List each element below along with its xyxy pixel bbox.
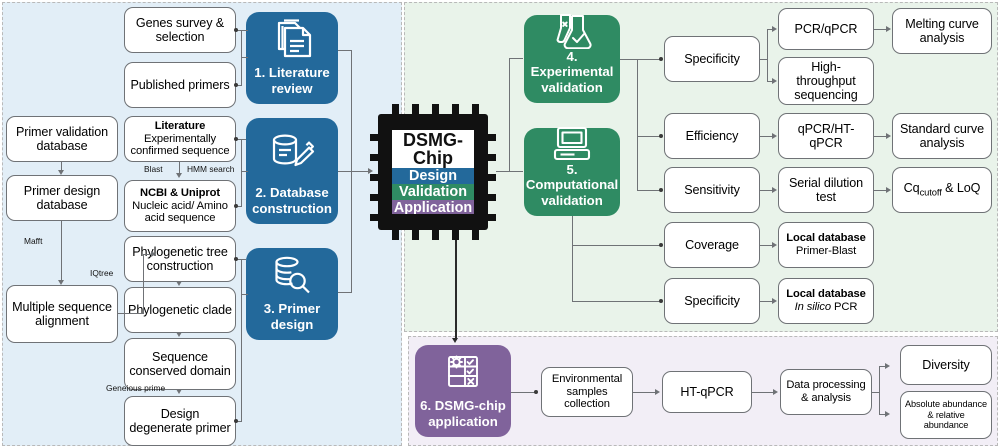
stagebox-experimental-validation-line1: 4. Experimental — [524, 49, 620, 80]
edge-msa-to-tree-v — [143, 254, 144, 314]
node-melting-curve-analysis: Melting curve analysis — [892, 8, 992, 54]
edge-s3-in — [241, 294, 248, 295]
stagebox-computational-validation-line1: 5. Computational — [522, 162, 622, 193]
chip-face: DSMG- Chip Design Validation Application — [392, 130, 474, 214]
edge-htqpcr-to-data — [752, 392, 774, 393]
edge-s4-bus — [637, 59, 638, 190]
dsmg-chip[interactable]: DSMG- Chip Design Validation Application — [370, 104, 496, 240]
stagebox-experimental-validation-line2: validation — [537, 80, 607, 95]
edge-s6-to-env — [511, 392, 536, 393]
edge-data-split — [879, 366, 880, 414]
node-exp-specificity: Specificity — [664, 36, 760, 82]
edge-spec-split — [767, 29, 768, 81]
edge-s5-to-coverage — [572, 245, 662, 246]
documents-icon — [246, 12, 338, 65]
arrowhead-qpcr-to-standard — [886, 133, 891, 139]
node-local-database-in-silico-pcr: Local database In silico PCR — [778, 278, 874, 324]
database-pencil-icon — [246, 118, 338, 185]
edge-validation-bus — [509, 58, 510, 172]
edge-lit-ncbi-v — [241, 139, 242, 206]
edge-tree-degenerate-v — [241, 259, 242, 421]
node-phylogenetic-clade: Phylogenetic clade — [124, 287, 236, 333]
node-phylogenetic-tree-construction: Phylogenetic tree construction — [124, 236, 236, 282]
node-design-degenerate-primer: Design degenerate primer — [124, 396, 236, 446]
edge-s1-in — [241, 57, 248, 58]
node-literature-body: Experimentally confirmed sequence — [128, 133, 232, 158]
arrowhead-domain-to-degenerate — [176, 389, 182, 394]
edge-label-blast: Blast — [144, 164, 163, 174]
node-exp-efficiency: Efficiency — [664, 113, 760, 159]
node-data-processing-analysis: Data processing & analysis — [780, 369, 872, 415]
node-absolute-relative-abundance: Absolute abundance & relative abundance — [900, 391, 992, 439]
stagebox-literature-review[interactable]: 1. Literature review — [246, 12, 338, 104]
stagebox-dsmg-chip-application[interactable]: 6. DSMG-chip application — [415, 345, 511, 437]
flasks-icon — [524, 13, 620, 49]
arrowhead-env-to-htqpcr — [655, 389, 660, 395]
node-primer-design-database: Primer design database — [6, 175, 118, 221]
arrowhead-literature-to-ncbi — [176, 173, 182, 178]
node-multiple-sequence-alignment: Multiple sequence alignment — [6, 285, 118, 343]
chip-band-application[interactable]: Application — [392, 200, 474, 214]
node-ncbi-uniprot-title: NCBI & Uniprot — [140, 187, 220, 200]
cq-text: Cqcutoff & LoQ — [904, 181, 981, 198]
node-qpcr-ht-qpcr: qPCR/HT-qPCR — [778, 113, 874, 159]
arrowhead-data-to-abundance — [885, 411, 890, 417]
edge-pddb-to-msa — [61, 221, 62, 281]
arrowhead-chip-to-application — [452, 338, 458, 343]
node-comp-specificity: Specificity — [664, 278, 760, 324]
checklist-gear-icon — [415, 345, 511, 398]
chip-title: DSMG- Chip — [392, 130, 474, 168]
node-ncbi-uniprot: NCBI & Uniprot Nucleic acid/ Amino acid … — [124, 180, 236, 232]
stagebox-computational-validation[interactable]: 5. Computational validation — [524, 128, 620, 216]
arrowhead-pddb-to-msa — [58, 280, 64, 285]
chip-band-design[interactable]: Design — [392, 168, 474, 184]
stagebox-database-construction-line2: construction — [248, 201, 336, 216]
node-local-db-title-1: Local database — [786, 232, 865, 245]
node-exp-sensitivity: Sensitivity — [664, 167, 760, 213]
node-diversity: Diversity — [900, 345, 992, 385]
arrowhead-pvdb-to-pddb — [58, 170, 64, 175]
arrowhead-data-to-diversity — [885, 363, 890, 369]
pcr-suffix: PCR — [831, 301, 857, 313]
stagebox-computational-validation-line2: validation — [537, 193, 607, 208]
edge-s2-out — [338, 171, 352, 172]
cq-suffix: & LoQ — [942, 181, 981, 195]
arrowhead-tree-to-clade — [176, 281, 182, 286]
node-high-throughput-sequencing: High-throughput sequencing — [778, 57, 874, 105]
node-primer-validation-database: Primer validation database — [6, 116, 118, 162]
edge-s4-out — [620, 59, 638, 60]
edge-s1-out — [338, 50, 352, 51]
node-comp-coverage: Coverage — [664, 222, 760, 268]
node-standard-curve-analysis: Standard curve analysis — [892, 113, 992, 159]
stagebox-database-construction-line1: 2. Database — [251, 185, 332, 200]
edge-s5-to-comp-specificity — [572, 301, 662, 302]
chip-band-validation[interactable]: Validation — [392, 184, 474, 200]
edge-s5-bus — [572, 216, 573, 301]
node-literature-title: Literature — [155, 120, 206, 133]
in-silico-italic: In silico — [795, 301, 831, 313]
arrowhead-coverage-to-localdb — [772, 242, 777, 248]
arrowhead-eff-to-qpcr — [772, 133, 777, 139]
edge-env-to-htqpcr — [633, 392, 656, 393]
node-environmental-samples-collection: Environmental samples collection — [541, 367, 633, 417]
node-cq-cutoff-loq: Cqcutoff & LoQ — [892, 167, 992, 213]
arrowhead-clade-to-domain — [176, 332, 182, 337]
stagebox-application-line2: application — [424, 414, 502, 429]
chip-title-line1: DSMG- — [403, 130, 463, 150]
edge-bus-to-s4 — [509, 58, 523, 59]
node-literature: Literature Experimentally confirmed sequ… — [124, 116, 236, 162]
stagebox-primer-design[interactable]: 3. Primer design — [246, 248, 338, 340]
computer-icon — [524, 126, 620, 162]
chip-title-line2: Chip — [413, 148, 453, 168]
edge-msa-to-tree-h — [118, 313, 144, 314]
node-ht-qpcr: HT-qPCR — [662, 371, 752, 413]
stagebox-experimental-validation[interactable]: 4. Experimental validation — [524, 15, 620, 103]
stagebox-literature-review-line1: 1. Literature — [250, 65, 334, 80]
edge-label-iqtree: IQtree — [90, 268, 113, 278]
node-local-db-title-2: Local database — [786, 288, 865, 301]
edge-label-mafft: Mafft — [24, 236, 42, 246]
edge-chip-to-validation — [496, 171, 510, 172]
arrowhead-compspec-to-localdb — [772, 298, 777, 304]
stagebox-database-construction[interactable]: 2. Database construction — [246, 118, 338, 224]
node-serial-dilution-test: Serial dilution test — [778, 167, 874, 213]
edge-chip-to-application — [455, 240, 457, 340]
chip-body: DSMG- Chip Design Validation Application — [378, 114, 488, 230]
node-primer-blast-body: Primer-Blast — [796, 245, 856, 258]
arrowhead-msa-to-tree — [151, 251, 156, 257]
arrowhead-pcr-to-melting — [886, 26, 891, 32]
arrowhead-spec-to-pcr — [772, 26, 777, 32]
stagebox-primer-design-line1: 3. Primer — [260, 301, 324, 316]
stagebox-application-line1: 6. DSMG-chip — [416, 398, 510, 413]
cq-prefix: Cq — [904, 181, 920, 195]
diagram-canvas: Primer validation database Primer design… — [0, 0, 1000, 448]
arrowhead-sens-to-serial — [772, 187, 777, 193]
edge-s3-out — [338, 292, 352, 293]
node-ncbi-uniprot-body: Nucleic acid/ Amino acid sequence — [128, 200, 232, 225]
database-search-icon — [246, 248, 338, 301]
node-local-database-primer-blast: Local database Primer-Blast — [778, 222, 874, 268]
edge-label-geneious-prime: Geneious prime — [106, 383, 165, 393]
node-genes-survey-selection: Genes survey & selection — [124, 7, 236, 53]
edge-label-hmm-search: HMM search — [187, 164, 234, 174]
edge-s2-in — [241, 171, 248, 172]
arrowhead-serial-to-cq — [886, 187, 891, 193]
stagebox-primer-design-line2: design — [267, 317, 318, 332]
node-pcr-qpcr: PCR/qPCR — [778, 8, 874, 50]
arrowhead-spec-to-hts — [772, 78, 777, 84]
stagebox-literature-review-line2: review — [267, 81, 316, 96]
cq-subscript: cutoff — [920, 187, 942, 198]
node-published-primers: Published primers — [124, 62, 236, 108]
arrowhead-htqpcr-to-data — [773, 389, 778, 395]
node-in-silico-pcr-body: In silico PCR — [795, 301, 858, 314]
